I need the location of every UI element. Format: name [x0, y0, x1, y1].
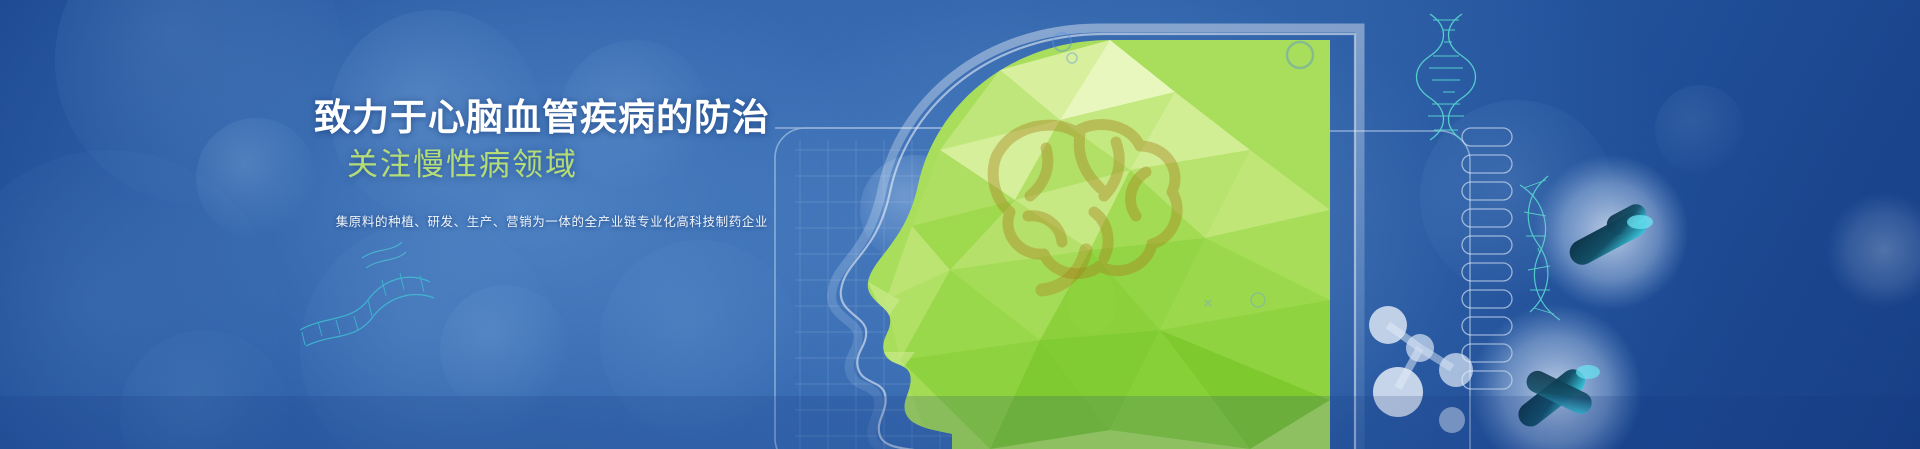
- text-block: 致力于心脑血管疾病的防治 关注慢性病领域 集原料的种植、研发、生产、营销为一体的…: [0, 0, 790, 449]
- hero-banner: 致力于心脑血管疾病的防治 关注慢性病领域 集原料的种植、研发、生产、营销为一体的…: [0, 0, 1920, 449]
- bacteria-cell-upper: [1533, 154, 1689, 310]
- cell-fragment-right: [1826, 192, 1920, 308]
- tagline: 集原料的种植、研发、生产、营销为一体的全产业链专业化高科技制药企业: [0, 211, 790, 230]
- dna-helix-top: [1417, 14, 1476, 140]
- page-title: 致力于心脑血管疾病的防治: [0, 96, 790, 140]
- subheadline: 关注慢性病领域: [0, 145, 790, 185]
